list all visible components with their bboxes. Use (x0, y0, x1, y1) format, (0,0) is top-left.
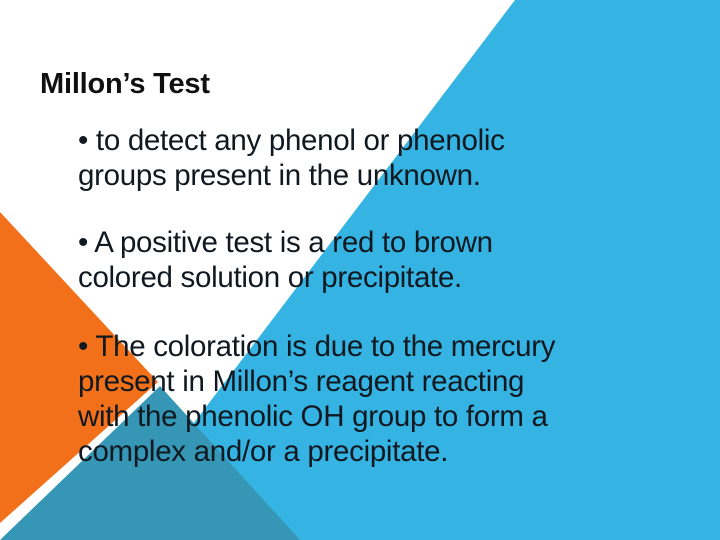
bullet-paragraph-1: • to detect any phenol or phenolic group… (78, 123, 698, 193)
bullet-paragraph-2: • A positive test is a red to brown colo… (78, 225, 698, 295)
page-title: Millon’s Test (40, 68, 210, 101)
slide-canvas: Millon’s Test • to detect any phenol or … (0, 0, 720, 540)
bullet-paragraph-3: • The coloration is due to the mercury p… (78, 329, 698, 469)
slide-content: Millon’s Test • to detect any phenol or … (0, 0, 720, 540)
